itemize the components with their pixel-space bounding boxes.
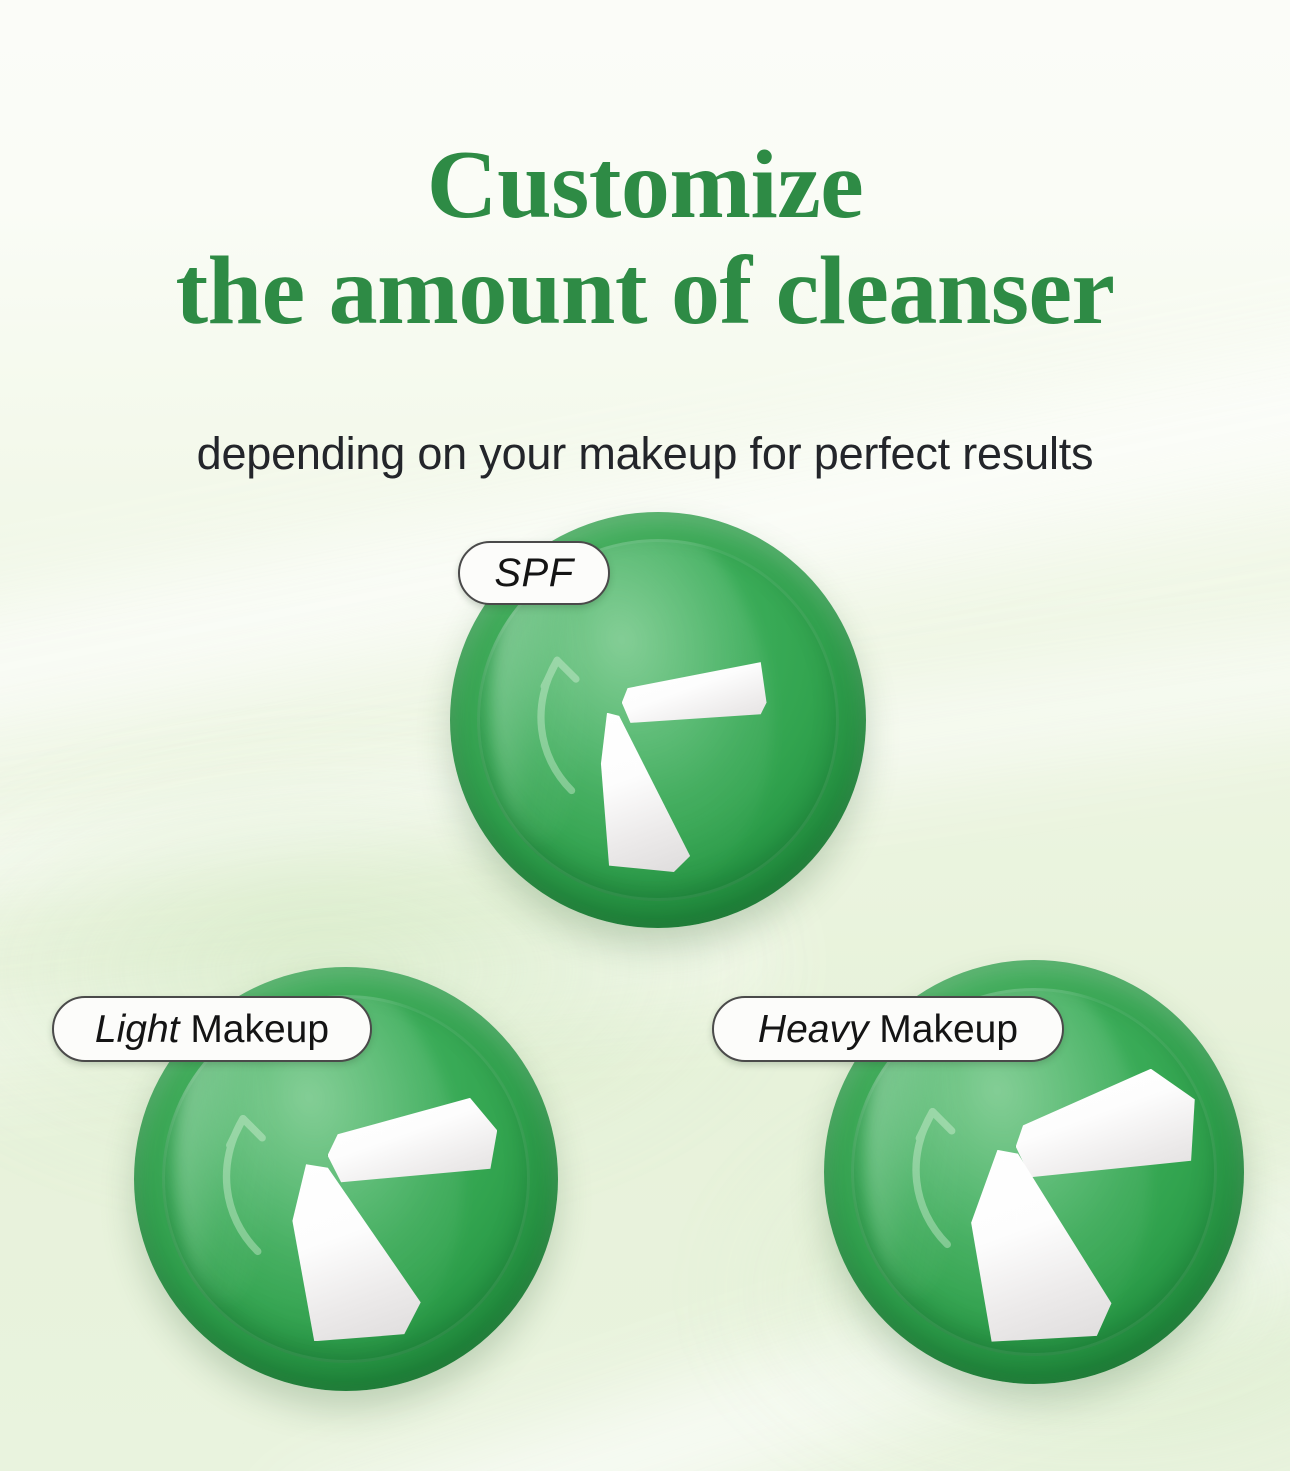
badge-light-makeup-emphasis: Light [95,1008,180,1051]
balm-wedge [1016,1069,1199,1187]
badge-heavy-makeup-emphasis: Heavy [758,1008,869,1051]
badge-spf-emphasis: SPF [494,551,573,595]
balm-wedge [622,662,767,734]
badge-spf[interactable]: SPF [458,541,610,605]
balm-wedge [328,1098,498,1194]
curved-open-arrow-icon [198,1098,294,1260]
page-subtitle: depending on your makeup for perfect res… [0,428,1290,480]
balm-wedge [593,713,694,872]
page-title: Customize the amount of cleanser [0,133,1290,345]
curved-open-arrow-icon [513,640,607,799]
headline-line-1: Customize [0,133,1290,239]
balm-wedge [968,1150,1114,1342]
badge-heavy-makeup-rest: Makeup [868,1008,1018,1051]
badge-light-makeup-label: Light Makeup [95,1010,329,1049]
curved-open-arrow-icon [888,1091,983,1253]
balm-wedge [287,1164,423,1341]
product-infographic-page: Customize the amount of cleanser dependi… [0,0,1290,1471]
badge-heavy-makeup-label: Heavy Makeup [758,1010,1018,1049]
badge-spf-label: SPF [494,553,573,593]
badge-light-makeup[interactable]: Light Makeup [52,996,372,1062]
badge-light-makeup-rest: Makeup [179,1008,329,1051]
headline-line-2: the amount of cleanser [0,239,1290,345]
badge-heavy-makeup[interactable]: Heavy Makeup [712,996,1064,1062]
